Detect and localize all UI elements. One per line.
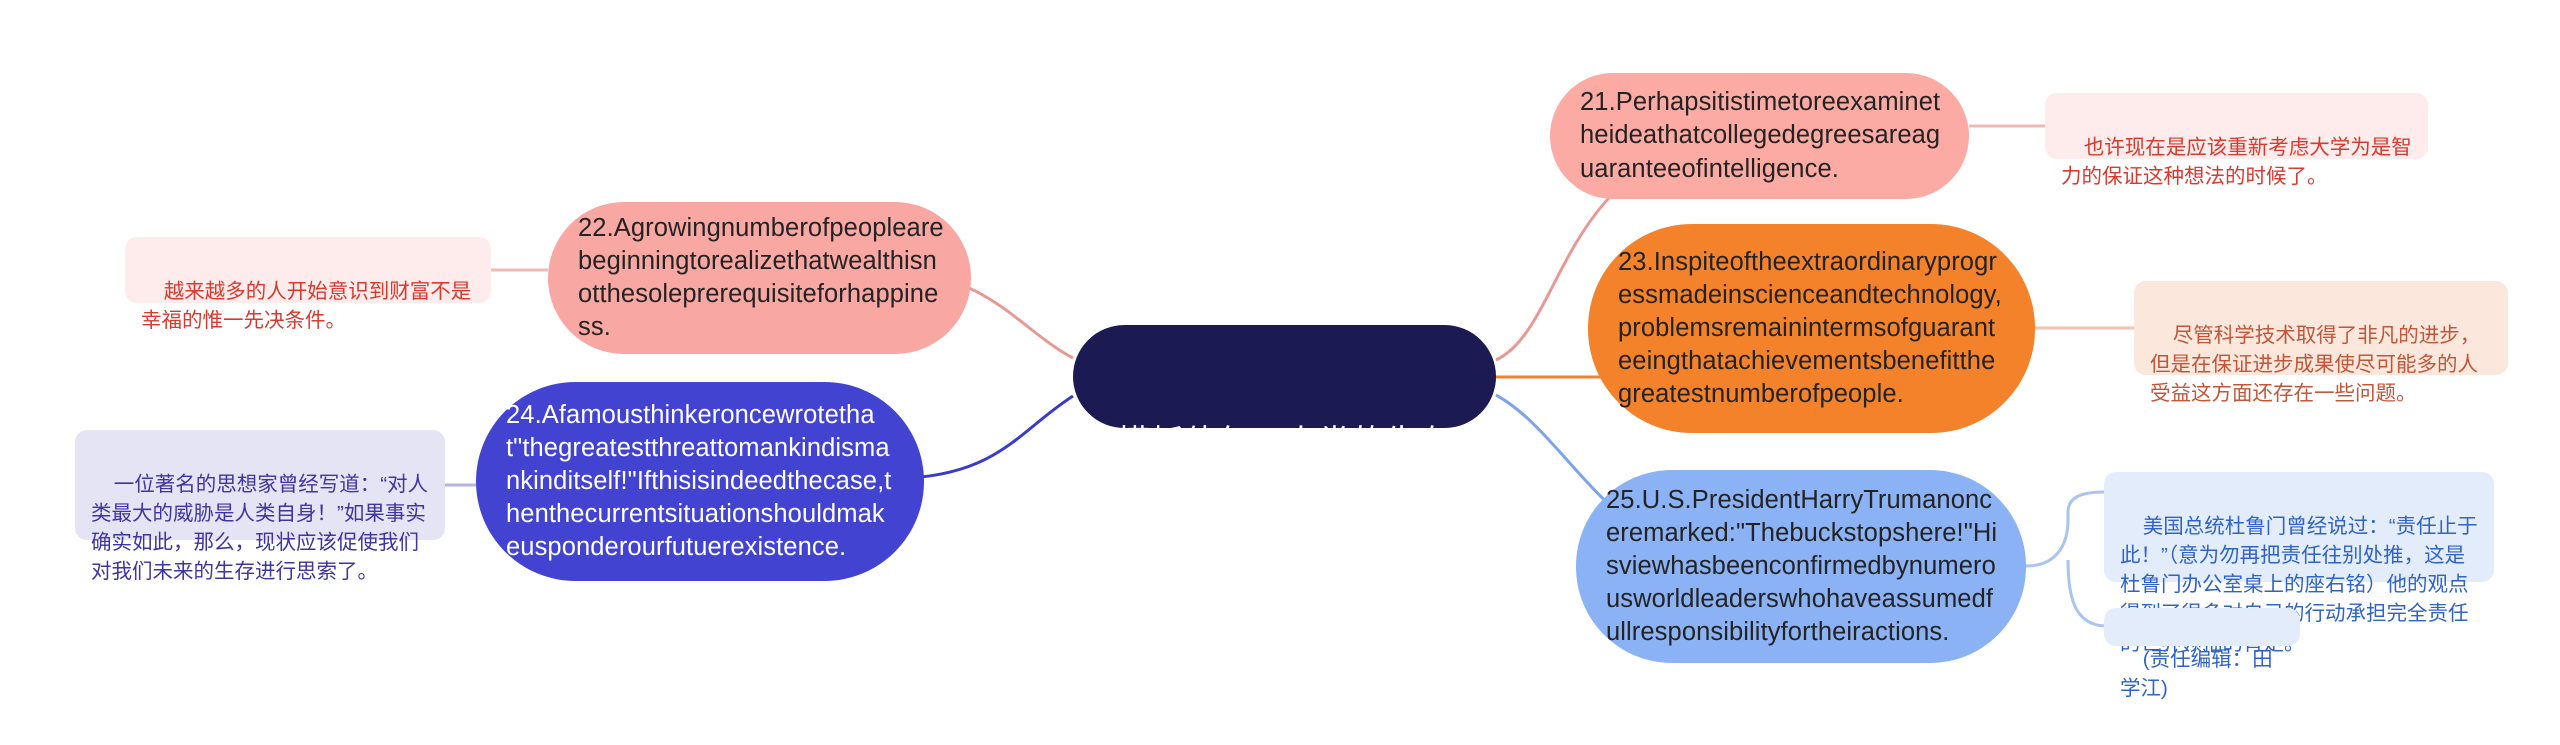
branch-node-25[interactable]: 25.U.S.PresidentHarryTrumanonceremarked:… (1576, 470, 2026, 663)
connector-25-to-note-group (2026, 492, 2104, 566)
note-22-text: 越来越多的人开始意识到财富不是幸福的惟一先决条件。 (141, 280, 471, 332)
branch-node-23[interactable]: 23.Inspiteoftheextraordinaryprogressmade… (1588, 224, 2035, 433)
center-node-line1: 2016年大学英语六级写作 (1096, 289, 1473, 333)
note-23-translation[interactable]: 尽管科学技术取得了非凡的进步，但是在保证进步成果使尽可能多的人受益这方面还存在一… (2134, 281, 2508, 375)
center-node[interactable]: 2016年大学英语六级写作 模板佳句：人类的生存 (1073, 325, 1496, 428)
branch-node-22[interactable]: 22.Agrowingnumberofpeoplearebeginningtor… (548, 202, 971, 354)
branch-node-24-label: 24.Afamousthinkeroncewrotethat"thegreate… (506, 399, 898, 565)
branch-node-24[interactable]: 24.Afamousthinkeroncewrotethat"thegreate… (476, 382, 924, 581)
note-24-text: 一位著名的思想家曾经写道：“对人类最大的威胁是人类自身！”如果事实确实如此，那么… (91, 473, 428, 583)
note-editor-credit-text: (责任编辑：田学江) (2120, 648, 2273, 700)
note-25-translation[interactable]: 美国总统杜鲁门曾经说过：“责任止于此！”（意为勿再把责任往别处推，这是杜鲁门办公… (2104, 472, 2494, 582)
note-24-translation[interactable]: 一位著名的思想家曾经写道：“对人类最大的威胁是人类自身！”如果事实确实如此，那么… (75, 430, 445, 540)
center-node-line2: 模板佳句：人类的生存 (1096, 420, 1473, 464)
note-23-text: 尽管科学技术取得了非凡的进步，但是在保证进步成果使尽可能多的人受益这方面还存在一… (2150, 324, 2480, 405)
mindmap-canvas: 2016年大学英语六级写作 模板佳句：人类的生存 21.Perhapsitist… (0, 0, 2560, 745)
branch-node-22-label: 22.Agrowingnumberofpeoplearebeginningtor… (578, 212, 945, 345)
branch-node-21[interactable]: 21.Perhapsitistimetoreexaminetheideathat… (1550, 73, 1969, 199)
note-editor-credit[interactable]: (责任编辑：田学江) (2104, 608, 2300, 646)
connector-25-to-note-credit (2068, 560, 2104, 626)
branch-node-23-label: 23.Inspiteoftheextraordinaryprogressmade… (1618, 246, 2009, 412)
note-21-text: 也许现在是应该重新考虑大学为是智力的保证这种想法的时候了。 (2061, 136, 2412, 188)
note-21-translation[interactable]: 也许现在是应该重新考虑大学为是智力的保证这种想法的时候了。 (2045, 93, 2428, 159)
note-22-translation[interactable]: 越来越多的人开始意识到财富不是幸福的惟一先决条件。 (125, 237, 491, 303)
branch-node-25-label: 25.U.S.PresidentHarryTrumanonceremarked:… (1606, 484, 2000, 650)
branch-node-21-label: 21.Perhapsitistimetoreexaminetheideathat… (1580, 86, 1943, 185)
